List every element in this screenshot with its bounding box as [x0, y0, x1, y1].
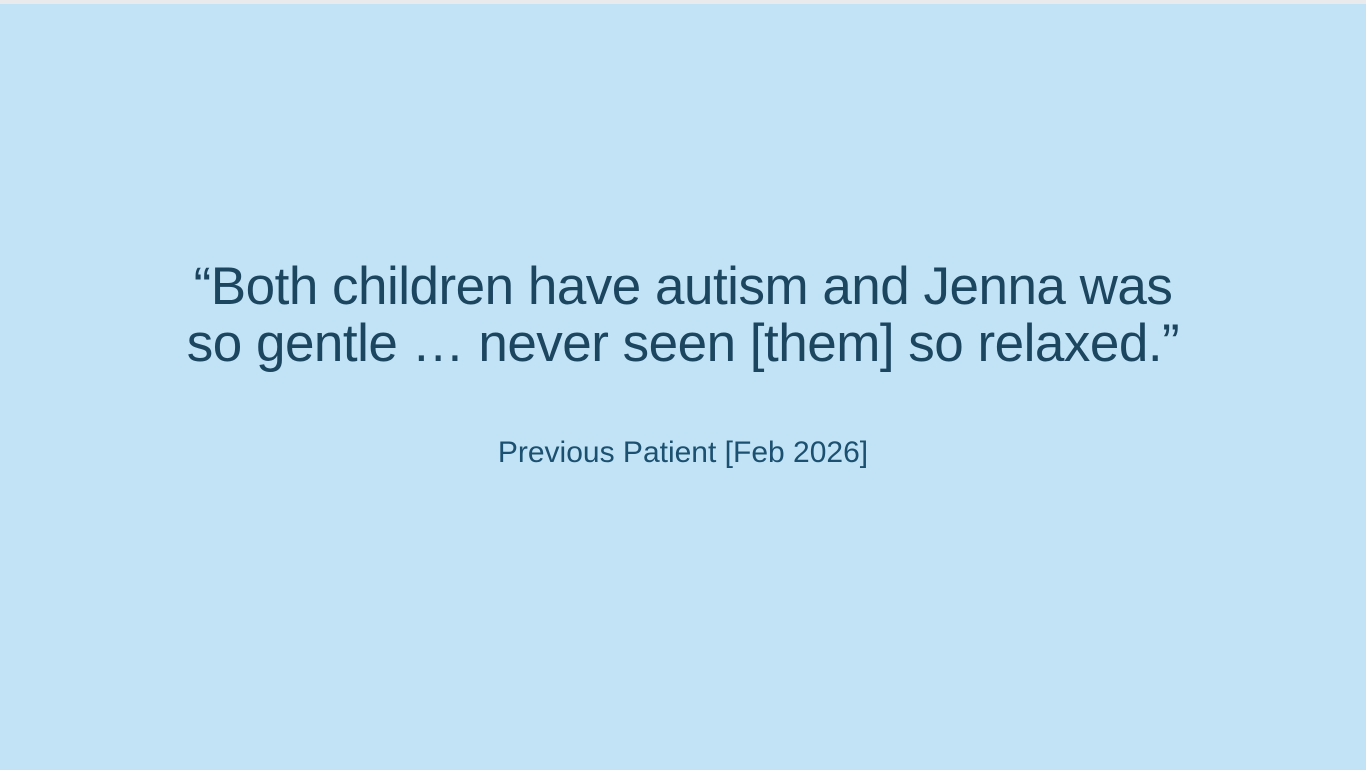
testimonial-content: “Both children have autism and Jenna was… — [178, 259, 1188, 470]
testimonial-slide: “Both children have autism and Jenna was… — [0, 0, 1366, 770]
top-edge-strip — [0, 0, 1366, 4]
quote-attribution: Previous Patient [Feb 2026] — [498, 373, 868, 471]
quote-text: “Both children have autism and Jenna was… — [178, 259, 1188, 372]
